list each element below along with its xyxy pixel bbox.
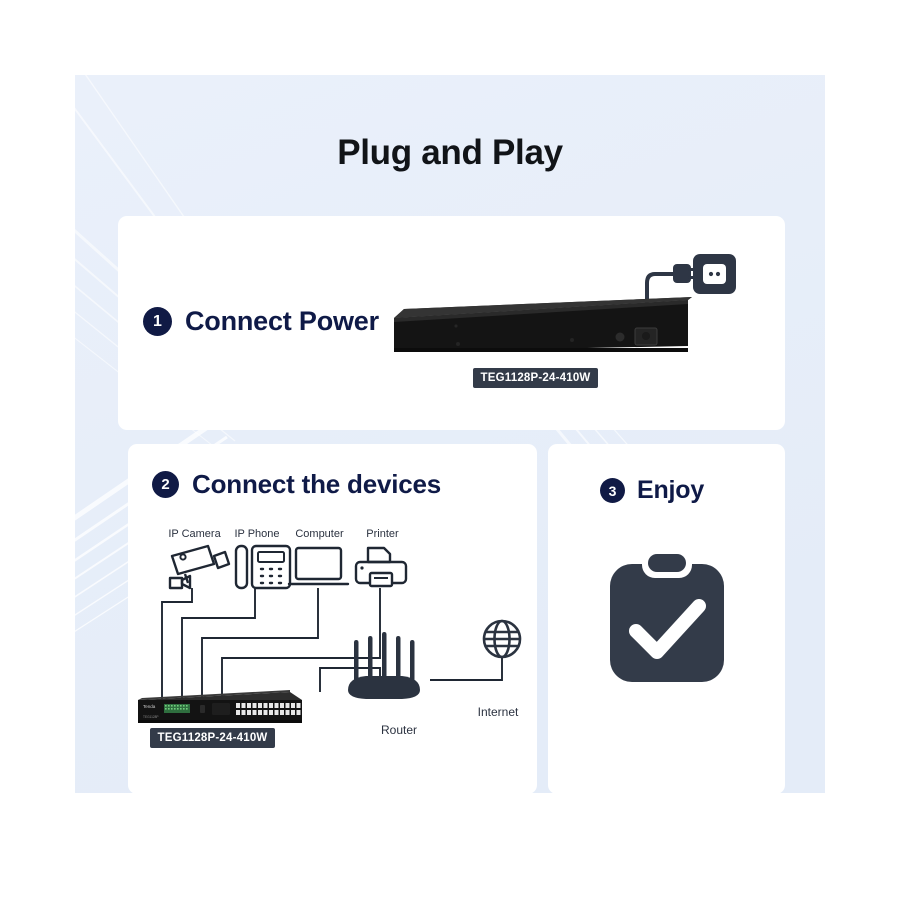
power-plug-icon (673, 264, 691, 283)
step-3-badge: 3 (600, 478, 625, 503)
device-model-plate-step2: TEG1128P-24-410W (150, 728, 275, 748)
step-2-title: Connect the devices (192, 469, 441, 500)
label-internet: Internet (455, 705, 541, 719)
wifi-router-icon (348, 632, 420, 699)
step-1-title: Connect Power (185, 306, 379, 337)
device-model-plate-step1: TEG1128P-24-410W (473, 368, 598, 388)
page-title: Plug and Play (75, 133, 825, 173)
clipboard-check-icon (604, 548, 730, 693)
laptop-icon (289, 548, 348, 584)
step-3-title: Enjoy (637, 476, 704, 505)
desk-phone-icon (236, 546, 290, 588)
printer-icon (356, 548, 406, 586)
cctv-camera-icon (170, 546, 229, 588)
cable-ip-camera (162, 588, 192, 700)
plug-and-play-page: Plug and Play 1 Connect Power (0, 0, 900, 900)
cable-router-internet (430, 658, 502, 680)
cable-ip-phone (182, 588, 255, 700)
network-switch-rear (394, 297, 692, 352)
step-2-badge: 2 (152, 471, 179, 498)
step-1-header: 1 Connect Power (143, 306, 379, 337)
globe-icon (484, 621, 520, 657)
step-2-header: 2 Connect the devices (152, 469, 441, 500)
svg-text:TEG1128P: TEG1128P (143, 715, 159, 719)
step-1-badge: 1 (143, 307, 172, 336)
connect-power-illustration (392, 252, 752, 364)
svg-text:Tenda: Tenda (143, 704, 156, 709)
label-router: Router (352, 723, 446, 737)
step-3-header: 3 Enjoy (600, 476, 704, 505)
label-printer: Printer (345, 528, 420, 540)
cable-computer (202, 588, 318, 700)
